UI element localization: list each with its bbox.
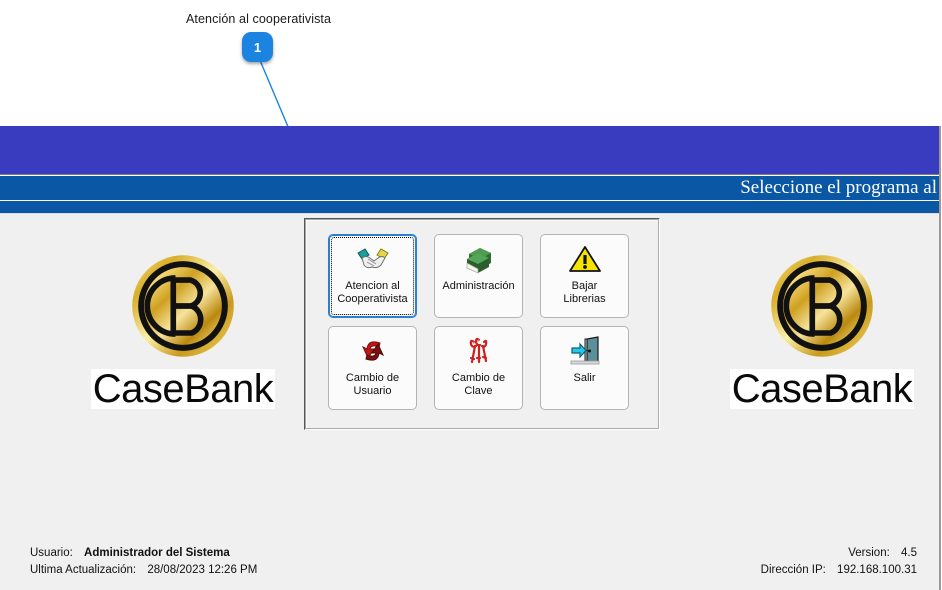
brand-logo-left: CaseBank <box>83 252 283 409</box>
status-footer: Usuario: Administrador del Sistema Ultim… <box>0 531 939 590</box>
menu-button-label: Salir <box>573 372 595 385</box>
casebank-coin-logo-icon <box>129 252 237 360</box>
menu-button-label: Cambio de Usuario <box>346 372 399 398</box>
annotation-badge-1[interactable]: 1 <box>242 32 273 62</box>
annotation-label: Atención al cooperativista <box>186 12 331 26</box>
screenshot-root: Atención al cooperativista 1 Seleccione … <box>0 0 942 590</box>
menu-button-cambio-de-clave[interactable]: Cambio de Clave <box>434 326 523 410</box>
books-icon <box>461 242 497 276</box>
exit-door-icon <box>567 334 603 368</box>
footer-ip-row: Dirección IP: 192.168.100.31 <box>761 562 917 579</box>
handshake-icon <box>355 242 391 276</box>
footer-actualizacion-row: Ultima Actualización: 28/08/2023 12:26 P… <box>30 562 257 579</box>
footer-version-value: 4.5 <box>901 547 917 559</box>
footer-version-label: Version: <box>848 545 890 562</box>
footer-ip-label: Dirección IP: <box>761 562 826 579</box>
footer-left-info: Usuario: Administrador del Sistema Ultim… <box>30 545 257 579</box>
warning-triangle-icon <box>567 242 603 276</box>
header-purple-band <box>0 126 939 175</box>
annotation-badge-number: 1 <box>254 40 261 55</box>
menu-button-cambio-de-usuario[interactable]: Cambio de Usuario <box>328 326 417 410</box>
menu-button-label: Administración <box>442 280 514 293</box>
application-window: Seleccione el programa al <box>0 126 941 590</box>
brand-name-right: CaseBank <box>730 369 915 409</box>
menu-button-atencion-al-cooperativista[interactable]: Atencion al Cooperativista <box>328 234 417 318</box>
footer-right-info: Version: 4.5 Dirección IP: 192.168.100.3… <box>761 545 917 579</box>
footer-actualizacion-label: Ultima Actualización: <box>30 562 136 579</box>
menu-button-bajar-librerias[interactable]: Bajar Librerias <box>540 234 629 318</box>
menu-button-label: Atencion al Cooperativista <box>337 280 407 306</box>
brand-name-left: CaseBank <box>91 369 276 409</box>
refresh-arrows-icon <box>355 334 391 368</box>
footer-ip-value: 192.168.100.31 <box>837 564 917 576</box>
page-title: Seleccione el programa al <box>740 177 939 199</box>
header-accent-bar <box>0 201 939 214</box>
footer-actualizacion-value: 28/08/2023 12:26 PM <box>147 564 257 576</box>
menu-button-administracion[interactable]: Administración <box>434 234 523 318</box>
menu-button-label: Cambio de Clave <box>452 372 505 398</box>
brand-logo-right: CaseBank <box>722 252 922 409</box>
footer-usuario-label: Usuario: <box>30 545 73 562</box>
footer-usuario-value: Administrador del Sistema <box>84 547 230 559</box>
menu-button-salir[interactable]: Salir <box>540 326 629 410</box>
footer-version-row: Version: 4.5 <box>761 545 917 562</box>
casebank-coin-logo-icon <box>768 252 876 360</box>
footer-usuario-row: Usuario: Administrador del Sistema <box>30 545 257 562</box>
header-title-bar: Seleccione el programa al <box>0 175 939 201</box>
keys-icon <box>461 334 497 368</box>
program-menu-panel: Atencion al Cooperativista <box>304 218 660 430</box>
workspace: CaseBank CaseBank <box>0 214 939 590</box>
program-menu-grid: Atencion al Cooperativista <box>328 234 629 410</box>
menu-button-label: Bajar Librerias <box>563 280 605 306</box>
